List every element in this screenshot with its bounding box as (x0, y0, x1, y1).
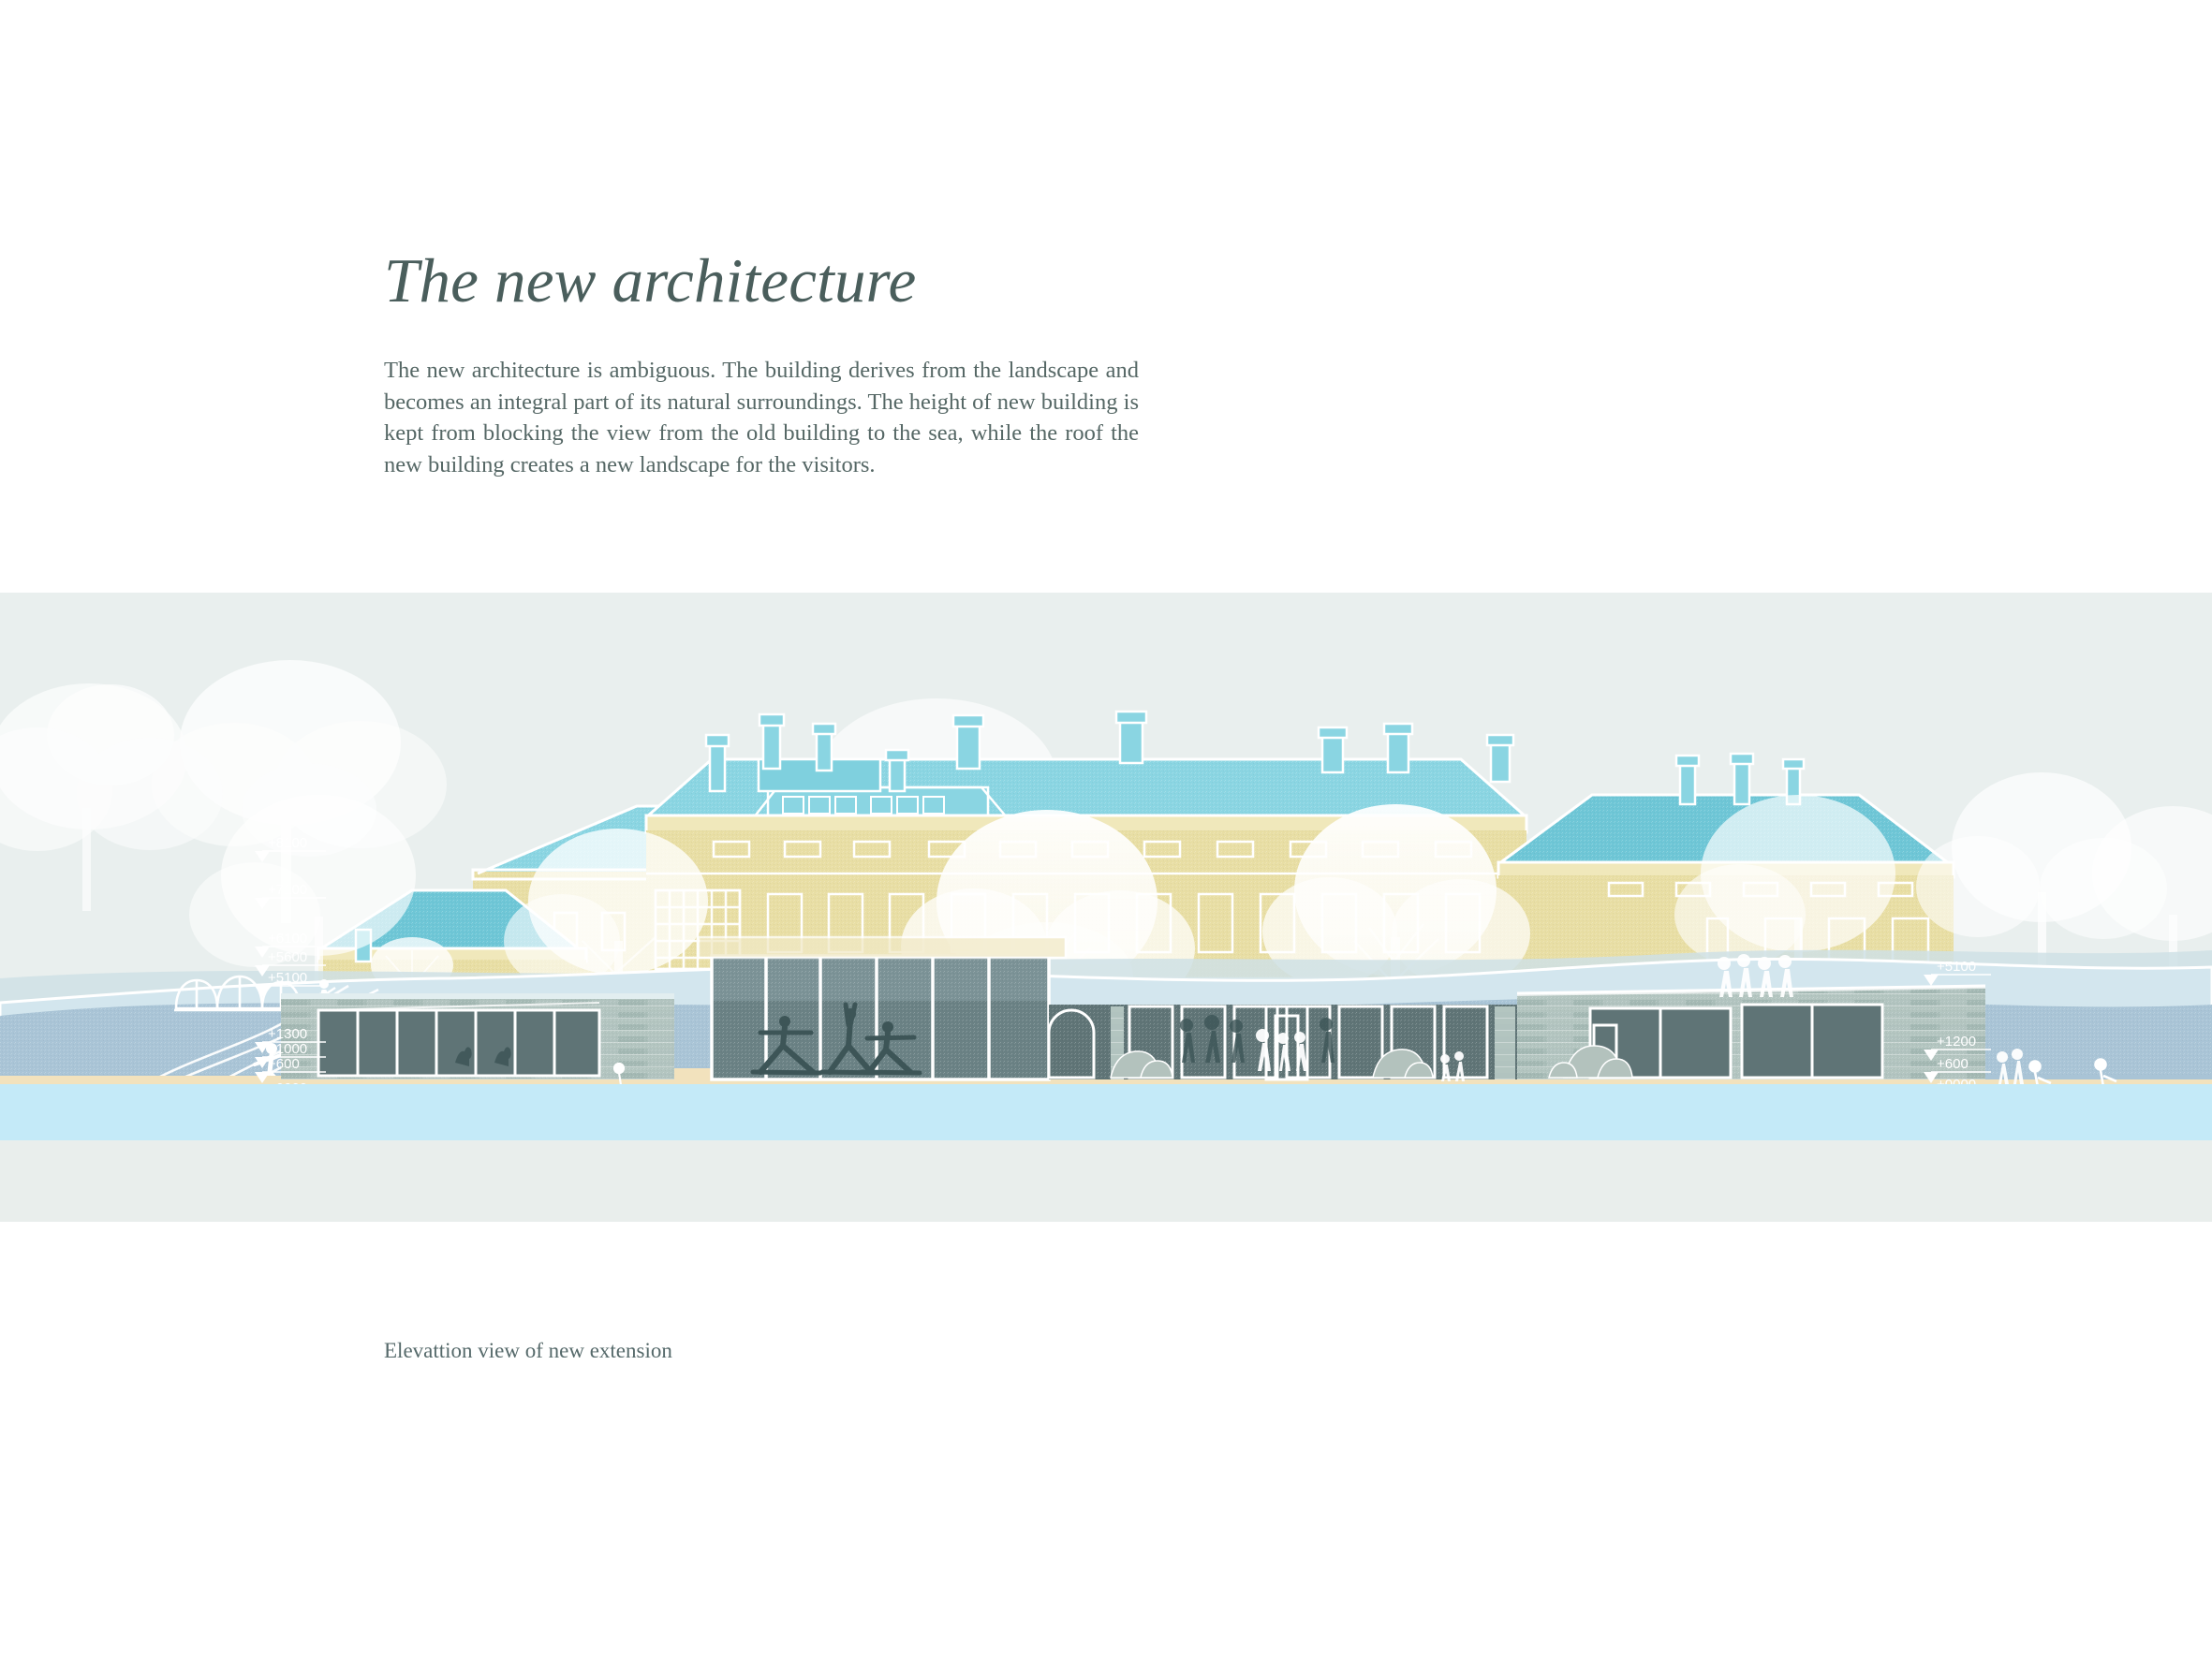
foreshore-band (0, 1140, 2212, 1222)
level-label: +600 (1937, 1056, 1969, 1072)
level-label: +600 (268, 1056, 300, 1072)
sea-band (0, 1084, 2212, 1140)
figure-caption: Elevattion view of new extension (384, 1337, 672, 1365)
level-label: +1300 (268, 1026, 307, 1042)
level-label: +6100 (268, 931, 307, 947)
left-volume-glazing (318, 1003, 599, 1076)
level-label: +5600 (268, 949, 307, 965)
level-label: +1000 (268, 1041, 307, 1057)
article-text-block: The new architecture The new architectur… (384, 248, 1139, 480)
level-label: +5100 (268, 970, 307, 986)
elevation-illustration: +8100 +7100 +6100 +5600 +5100 +1300 +100… (0, 593, 2212, 1222)
article-body-paragraph: The new architecture is ambiguous. The b… (384, 355, 1139, 480)
level-label: +5100 (1937, 959, 1976, 975)
glass-pavilion (699, 937, 1066, 1079)
level-label: +8100 (268, 835, 307, 851)
level-label: +7100 (268, 882, 307, 898)
level-label: +1200 (1937, 1034, 1976, 1050)
page-title: The new architecture (384, 248, 1139, 314)
elevation-drawing: +8100 +7100 +6100 +5600 +5100 +1300 +100… (0, 593, 2212, 1222)
